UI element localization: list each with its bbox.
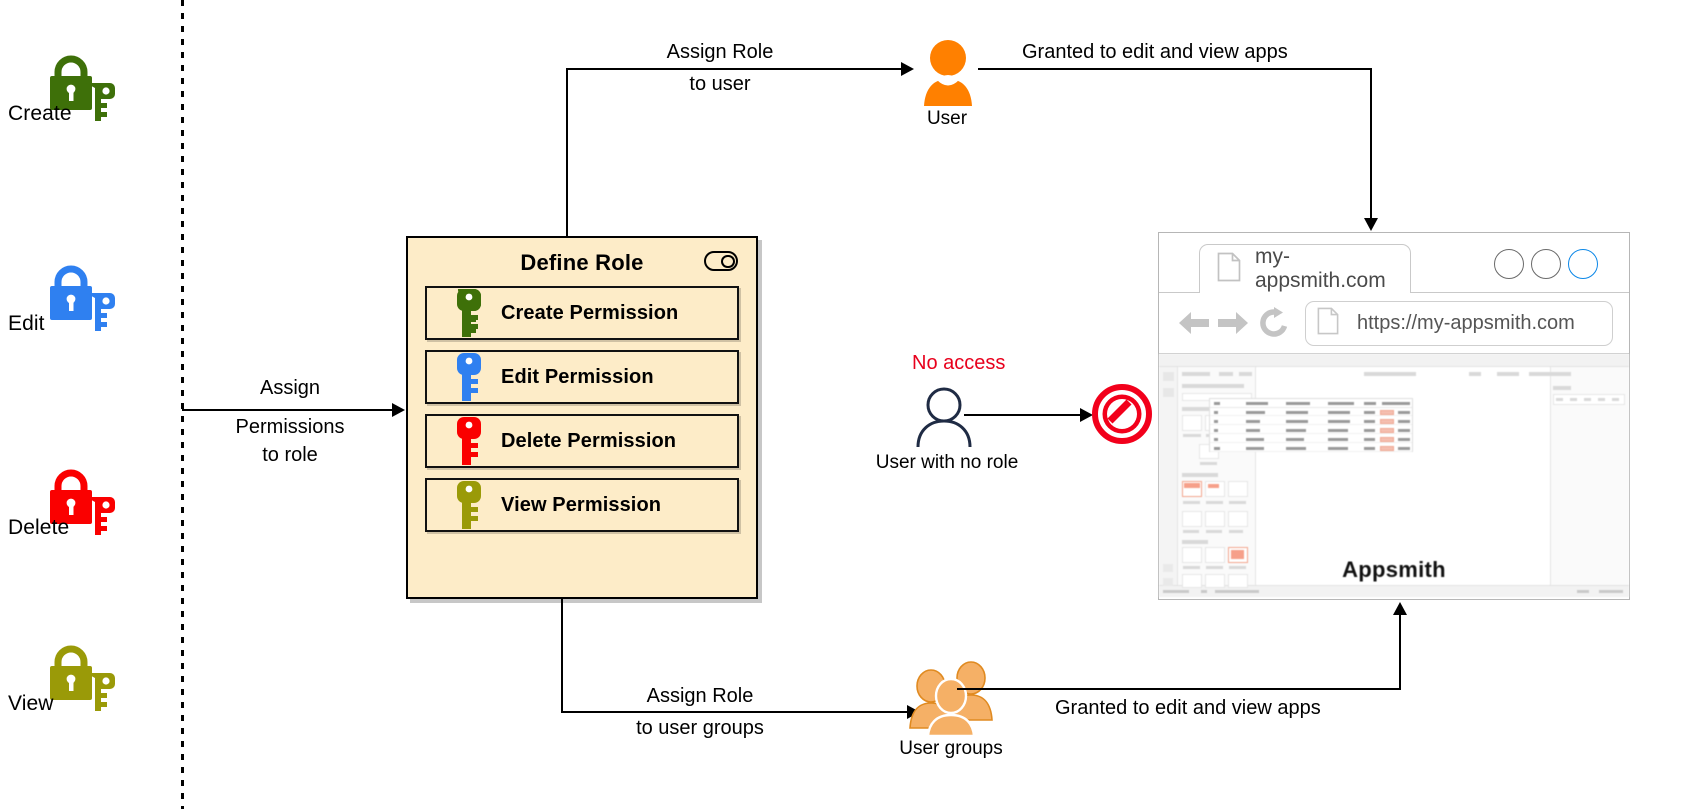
browser-tab-title: my-appsmith.com <box>1255 245 1410 293</box>
key-icon <box>445 351 491 403</box>
user-icon <box>917 38 979 106</box>
granted-user-arrowhead <box>1364 218 1378 231</box>
permission-row-create[interactable]: Create Permission <box>425 286 739 340</box>
user-groups-label: User groups <box>891 738 1011 760</box>
key-icon <box>445 479 491 531</box>
browser-nav-bar: https://my-appsmith.com <box>1159 293 1629 354</box>
permission-row-edit[interactable]: Edit Permission <box>425 350 739 404</box>
legend-item-label: Create <box>8 102 72 126</box>
user-no-role-label: User with no role <box>872 452 1022 474</box>
assign-role-user-arrowhead <box>901 62 914 76</box>
assign-permissions-arrowhead <box>392 403 405 417</box>
granted-groups-arrowhead <box>1393 602 1407 615</box>
legend-item-create: Create <box>0 48 160 158</box>
lock-key-icon <box>34 258 124 340</box>
assign-role-user-label-line2: to user <box>600 70 840 98</box>
no-entry-icon <box>1092 384 1152 444</box>
assign-permissions-label-line1: Assign <box>210 374 370 402</box>
assign-role-groups-label-line2: to user groups <box>580 714 820 742</box>
close-circle-icon[interactable] <box>1568 249 1598 279</box>
toggle-on-icon[interactable] <box>704 251 738 271</box>
assign-role-groups-dropper <box>561 598 563 713</box>
permission-label: View Permission <box>501 494 661 517</box>
granted-user-line <box>978 68 1372 70</box>
define-role-card[interactable]: Define Role Create Permission <box>406 236 758 599</box>
appsmith-editor-screenshot[interactable]: Appsmith <box>1159 354 1629 597</box>
browser-window[interactable]: my-appsmith.com <box>1158 232 1630 600</box>
legend-item-view: View <box>0 638 160 748</box>
granted-user-label: Granted to edit and view apps <box>1022 38 1288 66</box>
legend-item-edit: Edit <box>0 258 160 368</box>
permission-label: Edit Permission <box>501 366 654 389</box>
user-group-icon <box>905 660 997 736</box>
legend-item-label: View <box>8 692 54 716</box>
address-bar[interactable]: https://my-appsmith.com <box>1305 301 1613 346</box>
arrow-right-icon[interactable] <box>1216 310 1250 341</box>
appsmith-watermark: Appsmith <box>1159 557 1629 583</box>
assign-role-user-riser <box>566 68 568 238</box>
address-bar-value: https://my-appsmith.com <box>1357 312 1575 335</box>
browser-tab[interactable]: my-appsmith.com <box>1199 244 1411 293</box>
key-icon <box>445 415 491 467</box>
permission-row-delete[interactable]: Delete Permission <box>425 414 739 468</box>
permission-label: Delete Permission <box>501 430 676 453</box>
arrow-left-icon[interactable] <box>1177 310 1211 341</box>
permission-row-view[interactable]: View Permission <box>425 478 739 532</box>
user-label: User <box>897 108 997 130</box>
maximize-circle-icon[interactable] <box>1531 249 1561 279</box>
legend-item-label: Delete <box>8 516 69 540</box>
no-access-label: No access <box>912 352 1005 375</box>
no-access-line <box>964 414 1084 416</box>
reload-icon[interactable] <box>1258 307 1290 344</box>
assign-permissions-label-line3: to role <box>200 441 380 469</box>
assign-permissions-line <box>182 409 394 411</box>
assign-permissions-label-line2: Permissions <box>200 413 380 441</box>
diagram-canvas: Create Edit Delete <box>0 0 1682 809</box>
page-icon <box>1317 307 1339 340</box>
assign-role-user-label-line1: Assign Role <box>600 38 840 66</box>
legend-item-delete: Delete <box>0 462 160 572</box>
permission-label: Create Permission <box>501 302 678 325</box>
page-icon <box>1217 252 1241 287</box>
legend-item-label: Edit <box>8 312 45 336</box>
section-divider <box>181 0 184 809</box>
key-icon <box>445 287 491 339</box>
granted-groups-riser <box>1399 615 1401 689</box>
screenshot-table <box>1209 398 1413 452</box>
granted-user-dropper <box>1370 68 1372 220</box>
user-outline-icon <box>915 386 973 448</box>
assign-role-groups-label-line1: Assign Role <box>580 682 820 710</box>
minimize-circle-icon[interactable] <box>1494 249 1524 279</box>
browser-tab-strip: my-appsmith.com <box>1159 233 1629 293</box>
granted-groups-label: Granted to edit and view apps <box>1055 694 1321 722</box>
granted-groups-line <box>957 688 1401 690</box>
